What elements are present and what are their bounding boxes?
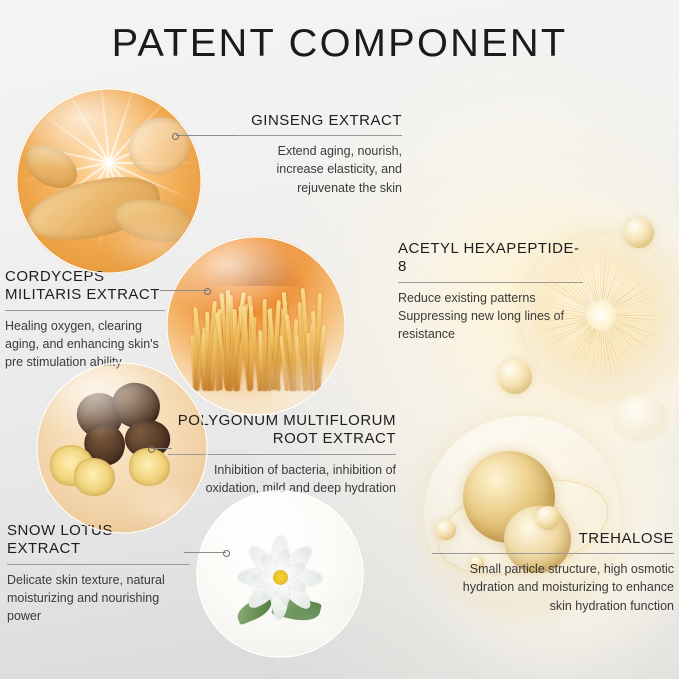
serum-bubble: [612, 396, 670, 442]
callout-heading: CORDYCEPS MILITARIS EXTRACT: [5, 268, 165, 305]
petri-dish-snow-lotus: [196, 490, 364, 658]
page-title: PATENT COMPONENT: [0, 22, 679, 66]
leader-dot-lotus: [223, 550, 230, 557]
callout-body: Healing oxygen, clearing aging, and enha…: [5, 317, 165, 371]
essence-core: [586, 300, 616, 330]
callout-body: Delicate skin texture, natural moisturiz…: [7, 571, 190, 625]
serum-droplet: [624, 218, 654, 248]
callout-ginseng: GINSENG EXTRACT Extend aging, nourish, i…: [234, 112, 402, 197]
cordyceps-strands: [191, 283, 324, 391]
patent-component-infographic: PATENT COMPONENT: [0, 0, 679, 679]
leader-line-polygonum: [152, 448, 172, 449]
petri-dish-cordyceps: [166, 236, 346, 416]
callout-body: Inhibition of bacteria, inhibition of ox…: [168, 461, 396, 497]
callout-snow-lotus: SNOW LOTUS EXTRACT Delicate skin texture…: [7, 522, 190, 625]
callout-polygonum: POLYGONUM MULTIFLORUM ROOT EXTRACT Inhib…: [168, 412, 396, 497]
callout-heading: SNOW LOTUS EXTRACT: [7, 522, 190, 559]
callout-heading: GINSENG EXTRACT: [234, 112, 402, 130]
callout-divider: [5, 310, 165, 311]
callout-divider: [7, 564, 190, 565]
cordyceps-shadow: [206, 243, 307, 286]
polygonum-root-slice: [129, 448, 170, 486]
leader-line-cordyceps: [160, 290, 208, 291]
callout-body: Small particle structure, high osmotic h…: [432, 560, 674, 614]
petri-dish-ginseng: [16, 88, 202, 274]
callout-body: Extend aging, nourish, increase elastici…: [234, 142, 402, 196]
callout-divider: [432, 553, 674, 554]
callout-heading: POLYGONUM MULTIFLORUM ROOT EXTRACT: [168, 412, 396, 449]
callout-heading: TREHALOSE: [432, 530, 674, 548]
leader-dot-ginseng: [172, 133, 179, 140]
callout-divider: [168, 454, 396, 455]
leader-line-ginseng: [176, 135, 236, 136]
callout-cordyceps: CORDYCEPS MILITARIS EXTRACT Healing oxyg…: [5, 268, 165, 371]
leader-dot-polygonum: [148, 446, 155, 453]
callout-heading: ACETYL HEXAPEPTIDE-8: [398, 240, 583, 277]
polygonum-root-slice: [74, 458, 115, 496]
leader-dot-cordyceps: [204, 288, 211, 295]
serum-droplet: [498, 360, 532, 394]
leader-line-lotus: [184, 552, 226, 553]
callout-trehalose: TREHALOSE Small particle structure, high…: [432, 530, 674, 615]
serum-droplet: [536, 506, 560, 530]
callout-divider: [234, 135, 402, 136]
